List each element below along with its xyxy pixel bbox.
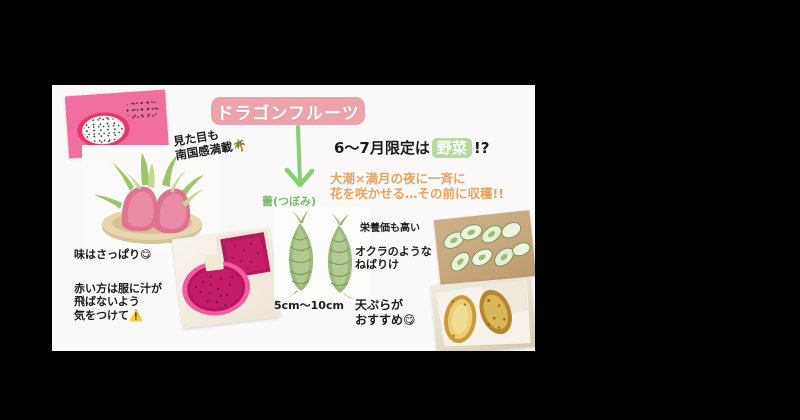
red-flesh-illustration	[172, 227, 280, 328]
warn-line2: 飛ばないよう	[74, 295, 140, 308]
photo-sliced-buds-on-board	[434, 210, 535, 286]
vegetable-chip: 野菜	[432, 138, 472, 158]
bloom-note: 大潮×満月の夜に一斉に花を咲かせる…その前に収穫!!	[330, 171, 504, 202]
sliced-buds-illustration	[434, 210, 535, 286]
photo-red-flesh-dragon-fruit	[172, 227, 280, 328]
tempura-note: 天ぷらがおすすめ😋	[355, 298, 416, 327]
bud-label: 蕾(つぼみ)	[262, 195, 316, 208]
warn-line1: 赤い方は服に汁が	[74, 282, 162, 295]
bud-size-label: 5cm〜10cm	[274, 299, 344, 312]
bloom-note-line1: 大潮×満月の夜に一斉に	[330, 171, 465, 186]
okra-note: オクラのようなねばりけ	[355, 245, 432, 272]
slide-canvas: ドラゴンフルーツ 見た目も南国感満載🌴 6〜7月限定は野菜!? 大潮×満月の夜に…	[52, 85, 535, 351]
bloom-note-line2: 花を咲かせる…その前に収穫!!	[330, 186, 504, 201]
down-arrow-icon	[278, 125, 322, 197]
okra-note-line2: ねばりけ	[355, 258, 399, 271]
title-chip: ドラゴンフルーツ	[211, 97, 365, 125]
photo-tempura	[431, 277, 535, 351]
warn-line3: 気をつけて⚠️	[74, 309, 143, 322]
tempura-note-line1: 天ぷらが	[355, 298, 403, 312]
headline-suffix: !?	[474, 139, 490, 157]
video-frame: ドラゴンフルーツ 見た目も南国感満載🌴 6〜7月限定は野菜!? 大潮×満月の夜に…	[0, 0, 800, 420]
tempura-illustration	[431, 277, 535, 351]
headline-prefix: 6〜7月限定は	[334, 139, 430, 157]
look-note: 見た目も南国感満載🌴	[172, 124, 247, 163]
taste-note: 味はさっぱり😋	[74, 248, 151, 261]
nutrition-note: 栄養価も高い	[360, 223, 420, 235]
stain-warning-note: 赤い方は服に汁が飛ばないよう気をつけて⚠️	[74, 282, 162, 322]
okra-note-line1: オクラのような	[355, 245, 432, 258]
tempura-note-line2: おすすめ😋	[355, 313, 416, 327]
headline: 6〜7月限定は野菜!?	[334, 138, 489, 158]
